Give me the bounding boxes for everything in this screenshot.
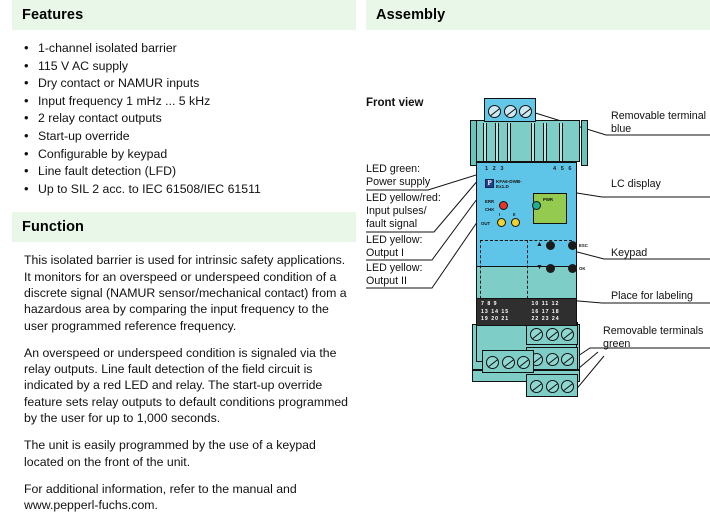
housing-fin [531,123,535,161]
led-label-err: ERR [485,199,494,204]
led-label-out-1: I [499,212,500,217]
screw-icon [546,380,559,393]
housing-rail-right [581,120,588,166]
led-green-power [532,201,541,210]
screw-icon [561,328,574,341]
callout-removable-terminals-green: Removable terminals green [603,325,703,351]
key-ok-button[interactable] [568,264,577,273]
callout-removable-terminal-blue: Removable terminal blue [611,110,706,136]
terminal-numbers-top-right: 4 5 6 [553,166,573,172]
screw-icon [530,328,543,341]
housing-top [472,120,580,162]
screw-icon [486,356,499,369]
terminal-screws [527,326,577,342]
led-red-fault [499,201,508,210]
screw-icon [546,353,559,366]
screw-icon [546,328,559,341]
function-paragraph: The unit is easily programmed by the use… [24,437,348,470]
features-heading: Features [22,7,83,23]
housing-fin [507,123,511,161]
assembly-heading: Assembly [376,7,445,23]
function-paragraph: For additional information, refer to the… [24,481,348,514]
features-header-band: Features [12,0,356,30]
place-for-labeling[interactable] [480,240,528,304]
removable-terminal-blue[interactable] [484,98,536,122]
callout-led-yellow-output-1: LED yellow: Output I [366,234,422,260]
function-paragraph: An overspeed or underspeed condition is … [24,345,348,426]
function-paragraph: This isolated barrier is used for intrin… [24,252,348,333]
screw-icon [502,356,515,369]
led-label-pwr: PWR [543,197,553,202]
terminal-screws [483,354,533,370]
terminal-screws [527,351,577,367]
screw-icon [561,380,574,393]
key-esc-button[interactable] [568,241,577,250]
assembly-header-band: Assembly [366,0,710,30]
key-ok-label: OK [579,266,585,271]
list-item: Dry contact or NAMUR inputs [24,75,356,93]
screw-icon [530,380,543,393]
list-item: 2 relay contact outputs [24,110,356,128]
list-item: Up to SIL 2 acc. to IEC 61508/IEC 61511 [24,181,356,199]
function-heading: Function [22,219,84,235]
led-yellow-output-1 [497,218,506,227]
screw-icon [488,105,501,118]
datasheet-page: Features 1-channel isolated barrier 115 … [0,0,710,477]
housing-fin [495,123,499,161]
list-item: Input frequency 1 mHz ... 5 kHz [24,93,356,111]
list-item: 115 V AC supply [24,58,356,76]
housing-rail-left [470,120,477,166]
part-number: KFA6-DWB- Ex1.D [496,179,522,190]
terminal-numbers-top: 1 2 3 4 5 6 [485,166,573,172]
key-esc-label: ESC [579,243,588,248]
function-body: This isolated barrier is used for intrin… [12,252,356,513]
list-item: Start-up override [24,128,356,146]
removable-terminal-green-lower-right[interactable] [526,374,578,397]
housing-fin [559,123,563,161]
terminal-numbers-bottom-left: 7 8 9 13 14 15 19 20 21 [477,299,526,325]
terminal-numbers-top-left: 1 2 3 [485,166,505,172]
screw-icon [561,353,574,366]
housing-fin [543,123,547,161]
function-header-band: Function [12,212,356,242]
right-column: Assembly Front view [366,0,710,460]
callout-place-for-labeling: Place for labeling [611,290,693,303]
arrow-down-icon: ▼ [536,264,543,271]
callout-led-yellow-output-2: LED yellow: Output II [366,262,422,288]
device-front-view: 1 2 3 4 5 6 KFA6-DWB- Ex1.D ERR CHK PWR … [470,98,588,428]
terminal-numbers-bottom-right: 10 11 12 16 17 18 22 23 24 [526,299,577,325]
led-yellow-output-2 [511,218,520,227]
features-list: 1-channel isolated barrier 115 V AC supp… [12,40,356,198]
housing-fin [483,123,487,161]
screw-icon [517,356,530,369]
list-item: Configurable by keypad [24,146,356,164]
led-label-out-2: II [513,212,515,217]
assembly-diagram: Front view [366,40,710,460]
key-down-button[interactable] [546,264,555,273]
screw-icon [519,105,532,118]
removable-terminal-green-left[interactable] [482,350,534,373]
pepperl-fuchs-logo-icon [485,179,494,188]
left-column: Features 1-channel isolated barrier 115 … [12,0,356,514]
front-view-label: Front view [366,97,424,109]
screw-icon [504,105,517,118]
callout-lc-display: LC display [611,178,661,191]
led-label-out: OUT [481,221,490,226]
callout-led-green-power: LED green: Power supply [366,163,430,189]
list-item: Line fault detection (LFD) [24,163,356,181]
callout-keypad: Keypad [611,247,647,260]
brand-label: KFA6-DWB- Ex1.D [485,179,522,190]
led-label-chk: CHK [485,207,494,212]
terminal-screws [485,102,535,120]
list-item: 1-channel isolated barrier [24,40,356,58]
key-up-button[interactable] [546,241,555,250]
terminal-screws [527,378,577,394]
terminal-numbers-bottom: 7 8 9 13 14 15 19 20 21 10 11 12 16 17 1… [476,298,577,326]
callout-led-yellow-red-input: LED yellow/red: Input pulses/ fault sign… [366,192,441,230]
arrow-up-icon: ▲ [536,241,543,248]
